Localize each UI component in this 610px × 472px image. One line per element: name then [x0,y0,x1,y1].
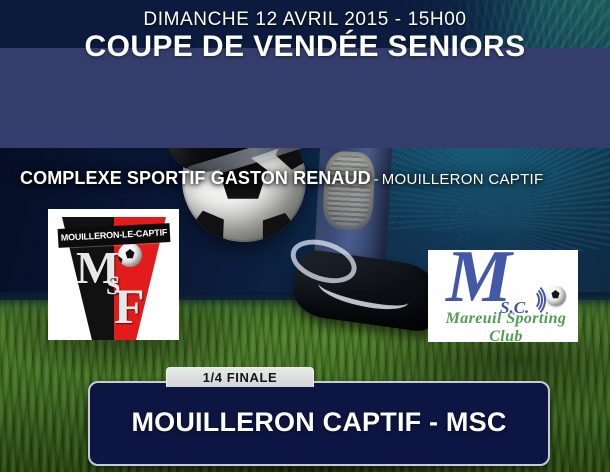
matchup-text: MOUILLERON CAPTIF - MSC [90,407,548,438]
round-label: 1/4 FINALE [167,370,313,385]
crest-banner-text: MOUILLERON-LE-CAPTIF [58,227,170,243]
msc-soccer-ball-icon [546,286,566,306]
football-boot-lower [290,248,448,334]
venue-name: COMPLEXE SPORTIF GASTON RENAUD [20,168,371,188]
venue-city: MOUILLERON CAPTIF [382,171,544,188]
msc-monogram-m: M [446,250,508,314]
msc-club-name: Mareuil Sporting Club [436,310,576,342]
crest-monogram: M S F [70,247,162,337]
pennant-shape: M S F MOUILLERON-LE-CAPTIF [62,217,166,340]
date-time-text: DIMANCHE 12 AVRIL 2015 - 15H00 [0,9,610,31]
matchup-panel: MOUILLERON CAPTIF - MSC [88,381,550,466]
away-club-crest: M S.C. Mareuil Sporting Club [428,250,578,342]
competition-title: COUPE DE VENDÉE SENIORS [0,30,610,64]
venue-line: COMPLEXE SPORTIF GASTON RENAUD-MOUILLERO… [20,168,544,189]
crest-soccer-ball-icon [118,243,142,267]
match-poster: DIMANCHE 12 AVRIL 2015 - 15H00 COUPE DE … [0,0,610,472]
shin-guard [322,150,376,231]
monogram-letter-f: F [114,281,145,331]
venue-separator: - [371,171,382,188]
round-tab: 1/4 FINALE [166,367,314,387]
home-club-crest: M S F MOUILLERON-LE-CAPTIF [48,209,179,340]
boot-stripe [316,270,412,316]
